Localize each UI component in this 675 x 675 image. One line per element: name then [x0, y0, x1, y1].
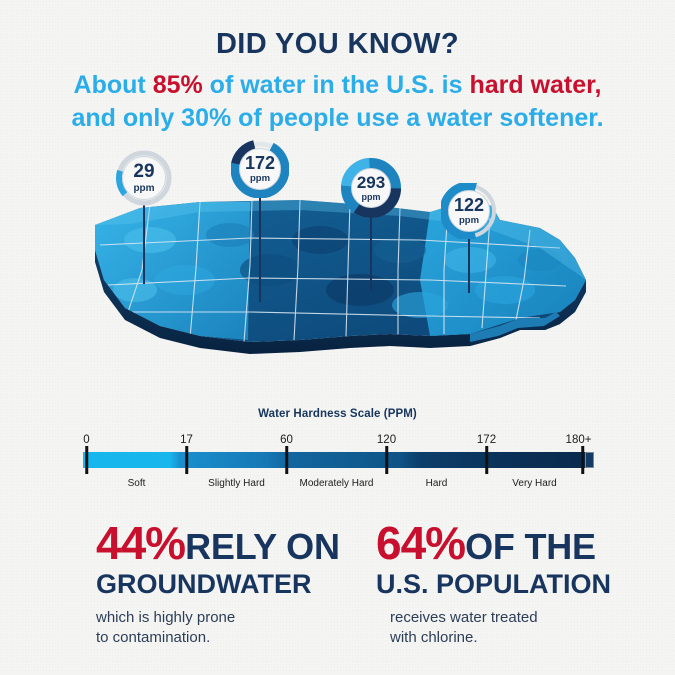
stat-30-percent: 30% [181, 104, 231, 132]
marker-bubble-293: 293 ppm [351, 168, 391, 208]
marker-stick [143, 202, 145, 284]
stat-population-subject: U.S. POPULATION [376, 569, 656, 599]
stat-groundwater-percent: 44% [96, 517, 185, 569]
tick-mark-120 [385, 446, 389, 474]
category-soft: Soft [128, 478, 146, 489]
tick-mark-17 [185, 446, 189, 474]
stat-groundwater-description: which is highly prone to contamination. [96, 608, 366, 649]
marker-bubble-29: 29 ppm [122, 156, 166, 200]
category-hard: Hard [426, 478, 448, 489]
scale-tick-17: 17 [180, 434, 193, 446]
subtitle-line-1: About 85% of water in the U.S. is hard w… [0, 69, 675, 101]
marker-stick [370, 214, 372, 290]
subtitle-text-d: of people use a water softener. [231, 104, 603, 132]
subtitle-text-c: and only [71, 104, 181, 132]
scale-tick-172: 172 [477, 434, 496, 446]
stat-population-headline: 64%OF THE [376, 520, 656, 567]
stat-population-desc-line1: receives water treated [390, 608, 656, 628]
tick-mark-0 [85, 446, 89, 474]
subtitle-text-a: About [74, 71, 153, 99]
marker-value: 122 [454, 196, 484, 214]
stat-population-description: receives water treated with chlorine. [376, 608, 656, 649]
tick-mark-180 [581, 446, 585, 474]
map-marker-172[interactable]: 172 ppm [231, 140, 289, 302]
marker-bubble-122: 122 ppm [448, 190, 490, 232]
marker-unit: ppm [250, 174, 270, 184]
stat-85-percent: 85% [153, 71, 203, 99]
subtitle-text-b: of water in the U.S. is [203, 71, 470, 99]
page-title: DID YOU KNOW? [0, 28, 675, 61]
marker-value: 293 [357, 174, 385, 191]
stat-population: 64%OF THE U.S. POPULATION receives water… [376, 520, 656, 649]
category-very-hard: Very Hard [512, 478, 556, 489]
map-stage: 29 ppm 172 ppm 293 ppm [0, 140, 675, 410]
stat-groundwater-head-rest: RELY ON [185, 526, 340, 567]
map-marker-122[interactable]: 122 ppm [441, 183, 497, 293]
scale-overflow-cap [585, 452, 594, 468]
scale-tick-120: 120 [377, 434, 396, 446]
scale-category-labels: Soft Slightly Hard Moderately Hard Hard … [83, 478, 593, 494]
water-hardness-scale: Water Hardness Scale (PPM) 0 17 60 120 1… [0, 408, 675, 496]
subtitle-line-2: and only 30% of people use a water softe… [0, 102, 675, 134]
scale-tick-180plus: 180+ [566, 434, 592, 446]
map-marker-293[interactable]: 293 ppm [341, 158, 401, 290]
us-map-illustration [0, 140, 675, 410]
stat-groundwater-headline: 44%RELY ON [96, 520, 366, 567]
stat-groundwater-desc-line1: which is highly prone [96, 608, 366, 628]
map-marker-29[interactable]: 29 ppm [116, 150, 172, 284]
scale-box: 0 17 60 120 172 180+ Soft Slightly Hard … [83, 434, 593, 496]
stat-groundwater-desc-line2: to contamination. [96, 628, 366, 648]
scale-gradient-bar [83, 452, 593, 468]
marker-unit: ppm [133, 184, 154, 194]
marker-value: 29 [133, 162, 154, 181]
category-moderately-hard: Moderately Hard [300, 478, 374, 489]
tick-mark-60 [285, 446, 289, 474]
stat-groundwater-subject: GROUNDWATER [96, 569, 366, 599]
marker-unit: ppm [459, 216, 479, 226]
category-slightly-hard: Slightly Hard [208, 478, 265, 489]
header: DID YOU KNOW? About 85% of water in the … [0, 0, 675, 134]
marker-unit: ppm [362, 193, 381, 202]
scale-tick-60: 60 [280, 434, 293, 446]
hard-water-emphasis: hard water, [469, 71, 601, 99]
stat-population-head-rest: OF THE [465, 526, 596, 567]
marker-stick [259, 194, 261, 302]
scale-tick-labels: 0 17 60 120 172 180+ [83, 434, 593, 449]
marker-value: 172 [245, 154, 275, 172]
scale-title: Water Hardness Scale (PPM) [0, 408, 675, 420]
stat-population-desc-line2: with chlorine. [390, 628, 656, 648]
scale-tick-0: 0 [83, 434, 89, 446]
tick-mark-172 [485, 446, 489, 474]
stat-groundwater: 44%RELY ON GROUNDWATER which is highly p… [96, 520, 366, 649]
marker-stick [468, 235, 470, 293]
marker-bubble-172: 172 ppm [239, 148, 281, 190]
stat-population-percent: 64% [376, 517, 465, 569]
